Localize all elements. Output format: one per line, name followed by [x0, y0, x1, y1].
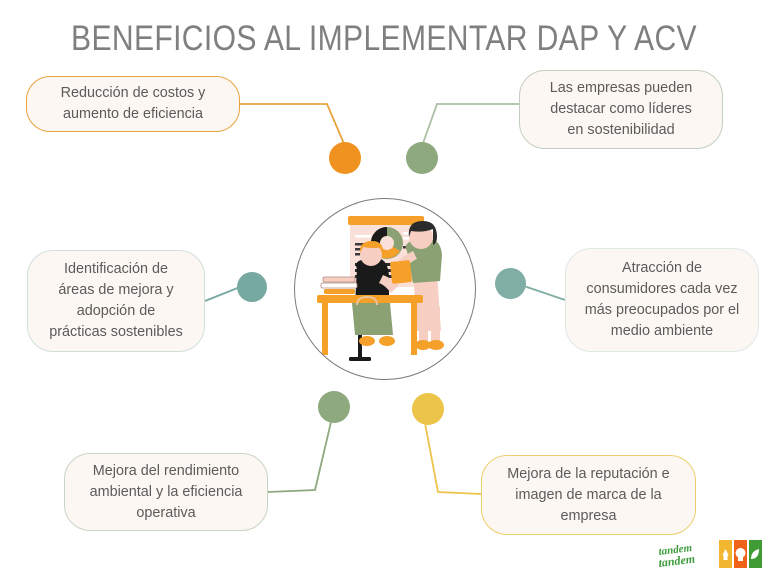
connector-middle-left [205, 287, 240, 301]
benefit-line: empresa [507, 506, 669, 527]
benefit-line: aumento de eficiencia [61, 104, 206, 125]
benefit-box-reputacion-marca: Mejora de la reputación e imagen de marc… [481, 455, 696, 535]
benefit-line: Las empresas pueden [550, 78, 692, 99]
slide-canvas: BENEFICIOS AL IMPLEMENTAR DAP Y ACV Redu… [0, 0, 768, 576]
benefit-line: Identificación de [49, 259, 183, 280]
benefit-line: operativa [90, 503, 243, 524]
benefit-line: Atracción de [585, 258, 739, 279]
benefit-box-reduccion-costos: Reducción de costos y aumento de eficien… [26, 76, 240, 132]
benefit-line: imagen de marca de la [507, 485, 669, 506]
tandem-logo: tandem tandem [657, 540, 763, 574]
benefit-line: prácticas sostenibles [49, 322, 183, 343]
benefit-box-lideres-sostenibilidad: Las empresas pueden destacar como lídere… [519, 70, 723, 149]
benefit-box-atraccion-consumidores: Atracción de consumidores cada vez más p… [565, 248, 759, 352]
connector-dot-top-left [329, 142, 361, 174]
benefit-line: Reducción de costos y [61, 83, 206, 104]
benefit-line: en sostenibilidad [550, 120, 692, 141]
connector-bottom-left [268, 422, 331, 492]
connector-dot-middle-right [495, 268, 526, 299]
connector-top-left [240, 104, 345, 146]
connector-dot-middle-left [237, 272, 267, 302]
benefit-line: áreas de mejora y [49, 280, 183, 301]
center-illustration-circle [294, 198, 476, 380]
benefit-box-rendimiento-ambiental: Mejora del rendimiento ambiental y la ef… [64, 453, 268, 531]
connector-dot-bottom-left [318, 391, 350, 423]
benefit-line: consumidores cada vez [585, 279, 739, 300]
benefit-box-areas-mejora: Identificación de áreas de mejora y adop… [27, 250, 205, 352]
benefit-line: Mejora de la reputación e [507, 464, 669, 485]
benefit-line: más preocupados por el [585, 300, 739, 321]
tandem-wordmark: tandem tandem [657, 542, 719, 572]
connector-top-right [422, 104, 519, 146]
connector-bottom-right [425, 423, 481, 494]
benefit-line: medio ambiente [585, 321, 739, 342]
connector-dot-top-right [406, 142, 438, 174]
benefit-line: ambiental y la eficiencia [90, 482, 243, 503]
benefit-line: destacar como líderes [550, 99, 692, 120]
lightbulb-icon [736, 548, 746, 558]
people-at-desk-with-presentation-board-icon [295, 199, 475, 379]
benefit-line: Mejora del rendimiento [90, 461, 243, 482]
tandem-logo-swatches [719, 540, 763, 574]
connector-dot-bottom-right [412, 393, 444, 425]
benefit-line: adopción de [49, 301, 183, 322]
connector-middle-right [521, 285, 565, 300]
page-title: BENEFICIOS AL IMPLEMENTAR DAP Y ACV [54, 18, 714, 60]
